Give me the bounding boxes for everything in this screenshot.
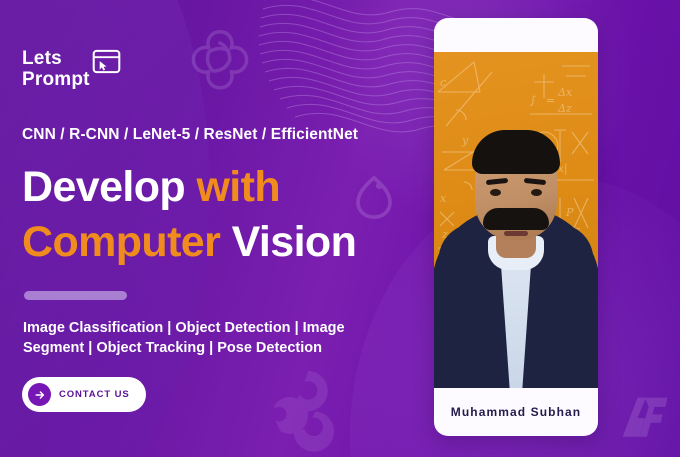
page-title: Develop with Computer Vision [22, 160, 422, 270]
af-monogram-icon [616, 392, 674, 448]
headline-develop: Develop [22, 163, 185, 211]
profile-name: Muhammad Subhan [434, 388, 598, 436]
headline-line-2: Computer Vision [22, 215, 422, 270]
eye-right [531, 189, 542, 196]
eye-left [490, 189, 501, 196]
profile-card: c y α x z ∫ = Δx Δz lim |x| n→∞ y = P [434, 18, 598, 436]
openai-knot-icon [185, 22, 255, 92]
brand-logo-text: Lets Prompt [22, 48, 90, 90]
brand-logo-line1: Lets [22, 48, 90, 69]
mustache [483, 208, 549, 230]
arrow-right-icon [28, 383, 51, 406]
portrait-figure [434, 52, 598, 388]
headline-line-1: Develop with [22, 160, 422, 215]
mouth [504, 231, 528, 236]
profile-photo: c y α x z ∫ = Δx Δz lim |x| n→∞ y = P [434, 52, 598, 388]
contact-us-label: CONTACT US [59, 389, 130, 400]
headline-computer: Computer [22, 218, 220, 266]
headline-with: with [196, 163, 280, 211]
hair [472, 130, 560, 174]
technology-list: CNN / R-CNN / LeNet-5 / ResNet / Efficie… [22, 126, 358, 144]
promotional-banner: Lets Prompt CNN / R-CNN / LeNet-5 / ResN… [0, 0, 680, 457]
browser-window-cursor-icon [92, 49, 121, 74]
contact-us-button[interactable]: CONTACT US [22, 377, 146, 412]
claude-swirl-icon [255, 362, 347, 457]
divider [24, 291, 127, 300]
headline-vision: Vision [232, 218, 357, 266]
brand-logo[interactable]: Lets Prompt [22, 48, 121, 90]
brand-logo-line2: Prompt [22, 69, 90, 90]
services-list: Image Classification | Object Detection … [23, 318, 363, 358]
